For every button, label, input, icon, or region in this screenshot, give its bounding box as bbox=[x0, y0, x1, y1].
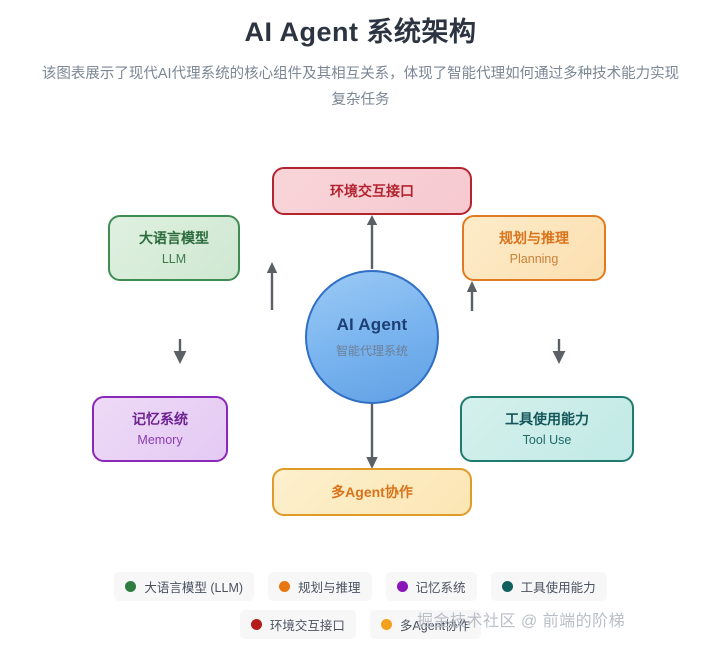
node-environment-interface[interactable]: 环境交互接口 bbox=[272, 167, 472, 215]
node-planning[interactable]: 规划与推理 Planning bbox=[462, 215, 606, 281]
node-env-title: 环境交互接口 bbox=[330, 182, 414, 200]
page-header: AI Agent 系统架构 该图表展示了现代AI代理系统的核心组件及其相互关系，… bbox=[0, 0, 721, 113]
edge-llm-to-core bbox=[267, 262, 277, 310]
node-memory[interactable]: 记忆系统 Memory bbox=[92, 396, 228, 462]
node-tool-title: 工具使用能力 bbox=[505, 410, 589, 428]
watermark: 掘金技术社区 @ 前端的阶梯 bbox=[417, 607, 625, 631]
edge-planning-to-tool bbox=[553, 339, 566, 364]
node-llm-title: 大语言模型 bbox=[139, 229, 209, 247]
edge-core-to-env bbox=[367, 215, 377, 269]
core-subtitle: 智能代理系统 bbox=[336, 342, 408, 359]
legend-swatch-icon bbox=[251, 619, 262, 630]
node-memory-title: 记忆系统 bbox=[132, 410, 188, 428]
legend-item-llm[interactable]: 大语言模型 (LLM) bbox=[114, 572, 254, 601]
node-multi-agent[interactable]: 多Agent协作 bbox=[272, 468, 472, 516]
core-title: AI Agent bbox=[337, 315, 408, 335]
node-planning-subtitle: Planning bbox=[510, 252, 559, 267]
legend-row-1: 大语言模型 (LLM) 规划与推理 记忆系统 工具使用能力 bbox=[0, 572, 721, 601]
node-tool-use[interactable]: 工具使用能力 Tool Use bbox=[460, 396, 634, 462]
legend-label: 记忆系统 bbox=[416, 577, 466, 596]
node-memory-subtitle: Memory bbox=[137, 433, 182, 448]
legend-swatch-icon bbox=[381, 619, 392, 630]
edge-core-to-planning bbox=[467, 281, 477, 311]
architecture-diagram: 环境交互接口 大语言模型 LLM 规划与推理 Planning 记忆系统 Mem… bbox=[0, 145, 721, 555]
legend-label: 环境交互接口 bbox=[270, 615, 345, 634]
legend-label: 规划与推理 bbox=[298, 577, 361, 596]
legend-swatch-icon bbox=[125, 581, 136, 592]
legend-swatch-icon bbox=[397, 581, 408, 592]
legend-swatch-icon bbox=[502, 581, 513, 592]
node-ai-agent-core[interactable]: AI Agent 智能代理系统 bbox=[305, 270, 439, 404]
page-title: AI Agent 系统架构 bbox=[0, 14, 721, 50]
legend-item-memory[interactable]: 记忆系统 bbox=[386, 572, 477, 601]
legend-label: 大语言模型 (LLM) bbox=[144, 577, 243, 596]
node-llm[interactable]: 大语言模型 LLM bbox=[108, 215, 240, 281]
edge-core-to-multi bbox=[366, 404, 377, 469]
legend-label: 工具使用能力 bbox=[521, 577, 596, 596]
node-llm-subtitle: LLM bbox=[162, 252, 186, 267]
legend-item-environment[interactable]: 环境交互接口 bbox=[240, 610, 356, 639]
node-multi-title: 多Agent协作 bbox=[331, 483, 413, 501]
legend-swatch-icon bbox=[279, 581, 290, 592]
node-planning-title: 规划与推理 bbox=[499, 229, 569, 247]
node-tool-subtitle: Tool Use bbox=[523, 433, 572, 448]
page-subtitle: 该图表展示了现代AI代理系统的核心组件及其相互关系，体现了智能代理如何通过多种技… bbox=[41, 62, 681, 113]
legend-item-planning[interactable]: 规划与推理 bbox=[268, 572, 372, 601]
legend-item-tool-use[interactable]: 工具使用能力 bbox=[491, 572, 607, 601]
edge-llm-to-memory bbox=[174, 339, 187, 364]
